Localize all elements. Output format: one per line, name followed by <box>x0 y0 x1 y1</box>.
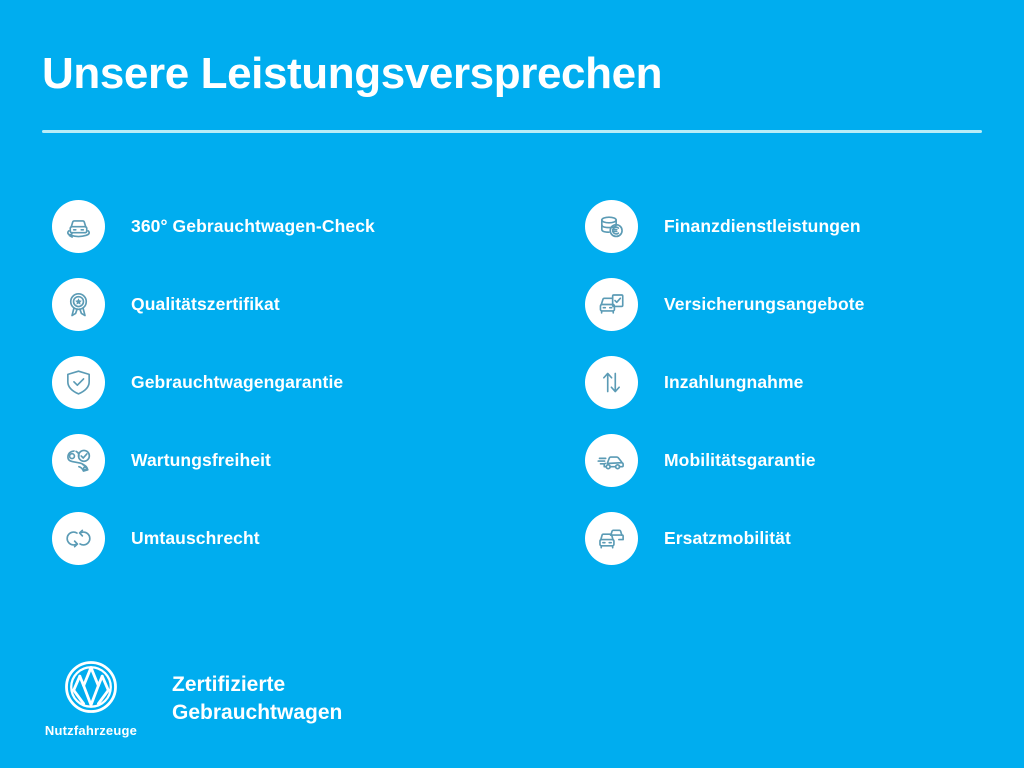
feature-item-finanzdienstleistungen[interactable]: Finanzdienstleistungen <box>585 200 982 253</box>
feature-label: Ersatzmobilität <box>664 528 791 549</box>
feature-item-wartungsfreiheit[interactable]: Wartungsfreiheit <box>52 434 517 487</box>
shield-check-icon <box>52 356 105 409</box>
exchange-arrows-icon <box>52 512 105 565</box>
coins-euro-icon <box>585 200 638 253</box>
feature-label: Mobilitätsgarantie <box>664 450 816 471</box>
feature-item-versicherungsangebote[interactable]: Versicherungsangebote <box>585 278 982 331</box>
brand-claim-line-2: Gebrauchtwagen <box>172 699 342 727</box>
page-title: Unsere Leistungsversprechen <box>42 50 982 98</box>
brand-claim-line-1: Zertifizierte <box>172 671 342 699</box>
feature-column-right: Finanzdienstleistungen Versicherungsange… <box>517 200 982 565</box>
feature-item-inzahlungnahme[interactable]: Inzahlungnahme <box>585 356 982 409</box>
feature-label: Qualitätszertifikat <box>131 294 280 315</box>
brand-footer: Nutzfahrzeuge Zertifizierte Gebrauchtwag… <box>36 659 342 738</box>
feature-label: Umtauschrecht <box>131 528 260 549</box>
feature-grid: 360° Gebrauchtwagen-Check Qualitätszerti… <box>52 200 982 565</box>
brand-sub-label: Nutzfahrzeuge <box>45 723 137 738</box>
brand-claim: Zertifizierte Gebrauchtwagen <box>172 659 342 726</box>
car-360-check-icon <box>52 200 105 253</box>
feature-column-left: 360° Gebrauchtwagen-Check Qualitätszerti… <box>52 200 517 565</box>
feature-label: Finanzdienstleistungen <box>664 216 861 237</box>
slide-header: Unsere Leistungsversprechen <box>42 50 982 133</box>
feature-item-umtauschrecht[interactable]: Umtauschrecht <box>52 512 517 565</box>
feature-item-mobilitaetsgarantie[interactable]: Mobilitätsgarantie <box>585 434 982 487</box>
car-document-check-icon <box>585 278 638 331</box>
slide-root: Unsere Leistungsversprechen 360° Gebrauc… <box>0 0 1024 768</box>
two-cars-icon <box>585 512 638 565</box>
feature-label: Wartungsfreiheit <box>131 450 271 471</box>
feature-item-gebrauchtwagen-check[interactable]: 360° Gebrauchtwagen-Check <box>52 200 517 253</box>
feature-label: Inzahlungnahme <box>664 372 803 393</box>
wrench-check-icon <box>52 434 105 487</box>
brand-mark: Nutzfahrzeuge <box>36 659 146 738</box>
feature-item-ersatzmobilitaet[interactable]: Ersatzmobilität <box>585 512 982 565</box>
feature-item-gebrauchtwagengarantie[interactable]: Gebrauchtwagengarantie <box>52 356 517 409</box>
title-divider <box>42 130 982 133</box>
feature-label: 360° Gebrauchtwagen-Check <box>131 216 375 237</box>
up-down-arrows-icon <box>585 356 638 409</box>
feature-item-qualitaetszertifikat[interactable]: Qualitätszertifikat <box>52 278 517 331</box>
volkswagen-logo <box>63 659 119 715</box>
feature-label: Versicherungsangebote <box>664 294 865 315</box>
car-speed-icon <box>585 434 638 487</box>
award-medal-icon <box>52 278 105 331</box>
feature-label: Gebrauchtwagengarantie <box>131 372 343 393</box>
